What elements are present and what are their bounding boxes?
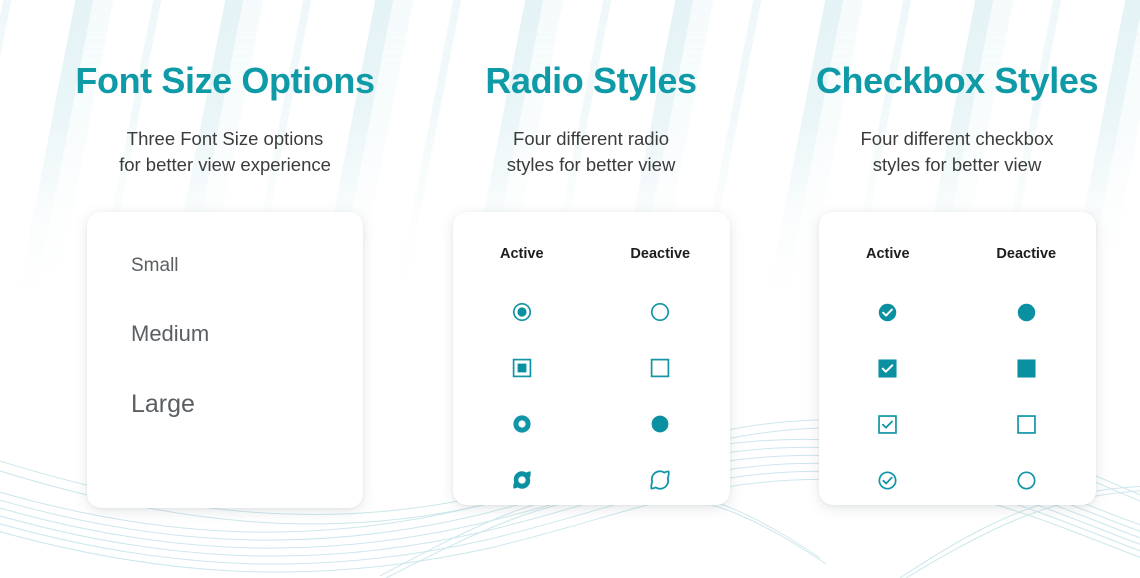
circle-solid-icon[interactable] [957,303,1096,322]
check-circle-filled-icon[interactable] [819,303,958,322]
column-radio-styles: Radio Styles Four different radio styles… [408,62,774,508]
radio-row-3 [453,396,730,452]
font-size-option-small[interactable]: Small [131,256,363,275]
page-title-font-size-options: Font Size Options [75,62,374,100]
radio-square-empty-icon[interactable] [591,358,730,378]
square-solid-icon[interactable] [957,359,1096,378]
card-checkbox-styles: Active Deactive [819,212,1096,505]
subtitle-font-size-options: Three Font Size options for better view … [119,126,331,179]
radio-column-headers: Active Deactive [453,246,730,262]
page-title-radio-styles: Radio Styles [485,62,696,100]
page-title-checkbox-styles: Checkbox Styles [816,62,1098,100]
column-checkbox-styles: Checkbox Styles Four different checkbox … [774,62,1140,508]
radio-donut-icon[interactable] [453,414,592,434]
font-size-option-medium[interactable]: Medium [131,323,363,345]
radio-row-2 [453,340,730,396]
checkbox-row-1 [819,284,1096,340]
check-square-outline-icon[interactable] [819,415,958,434]
column-font-size-options: Font Size Options Three Font Size option… [42,62,408,508]
checkbox-header-deactive: Deactive [957,246,1096,262]
subtitle-checkbox-styles: Four different checkbox styles for bette… [861,126,1054,179]
radio-header-deactive: Deactive [591,246,730,262]
font-size-option-large[interactable]: Large [131,392,363,417]
check-circle-outline-icon[interactable] [819,471,958,490]
circle-empty-icon[interactable] [957,471,1096,490]
card-font-size-options: Small Medium Large [87,212,363,508]
columns-container: Font Size Options Three Font Size option… [0,0,1140,508]
radio-circle-empty-icon[interactable] [591,302,730,322]
card-radio-styles: Active Deactive [453,212,730,505]
radio-circle-solid-icon[interactable] [591,414,730,434]
checkbox-header-active: Active [819,246,958,262]
square-empty-icon[interactable] [957,415,1096,434]
radio-circle-dot-icon[interactable] [453,302,592,322]
radio-row-4 [453,452,730,508]
checkbox-column-headers: Active Deactive [819,246,1096,262]
radio-header-active: Active [453,246,592,262]
checkbox-row-2 [819,340,1096,396]
radio-row-1 [453,284,730,340]
subtitle-radio-styles: Four different radio styles for better v… [507,126,676,179]
checkbox-row-4 [819,452,1096,508]
checkbox-row-3 [819,396,1096,452]
radio-leaf-empty-icon[interactable] [591,469,730,491]
radio-leaf-filled-icon[interactable] [453,469,592,491]
radio-square-filled-icon[interactable] [453,358,592,378]
check-square-filled-icon[interactable] [819,359,958,378]
